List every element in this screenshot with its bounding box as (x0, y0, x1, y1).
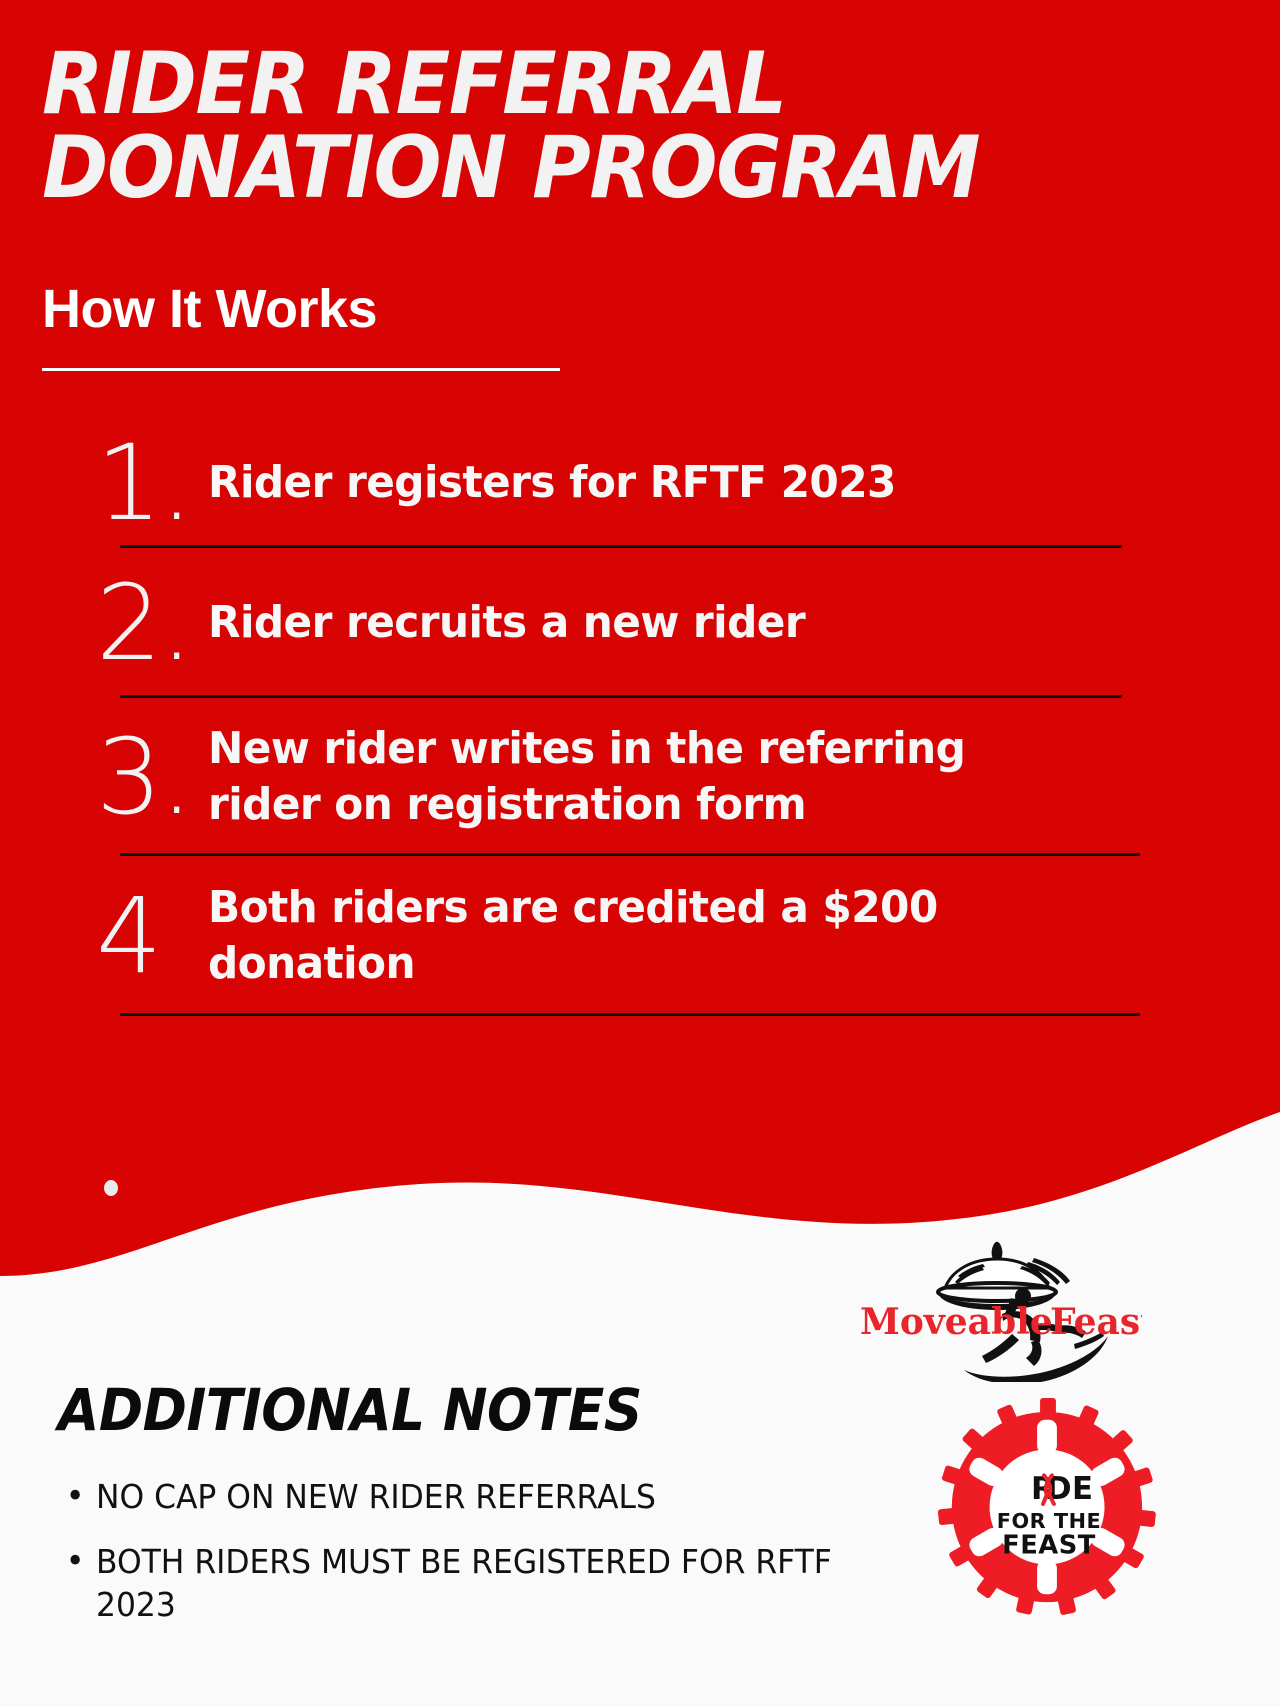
note-item-2: BOTH RIDERS MUST BE REGISTERED FOR RFTF … (58, 1541, 837, 1627)
moveable-feast-word1: Moveable (860, 1301, 1053, 1343)
step-item-1: 1. Rider registers for RFTF 2023 (0, 418, 1280, 548)
step-text-1: Rider registers for RFTF 2023 (208, 455, 896, 511)
step-text-2: Rider recruits a new rider (208, 595, 805, 651)
moveable-feast-word2: Feast (1050, 1301, 1142, 1343)
ride-for-the-feast-logo: R DE FOR THE FEAST (938, 1398, 1156, 1616)
decorative-dot (104, 1180, 118, 1196)
rftf-line3: FEAST (1002, 1531, 1096, 1561)
step-item-4: 4 Both riders are credited a $200 donati… (0, 856, 1280, 1016)
step-number-4: 4 (96, 884, 208, 988)
additional-notes-section: ADDITIONAL NOTES NO CAP ON NEW RIDER REF… (58, 1376, 878, 1649)
note-item-1: NO CAP ON NEW RIDER REFERRALS (58, 1476, 837, 1519)
step-item-2: 2. Rider recruits a new rider (0, 548, 1280, 698)
step-number-1: 1. (96, 431, 208, 535)
step-number-3: 3. (96, 725, 208, 829)
rftf-line2: FOR THE (997, 1509, 1101, 1533)
step-text-4: Both riders are credited a $200 donation (208, 880, 1005, 993)
notes-list: NO CAP ON NEW RIDER REFERRALS BOTH RIDER… (58, 1476, 878, 1627)
steps-list: 1. Rider registers for RFTF 2023 2. Ride… (0, 418, 1280, 1016)
step-text-3: New rider writes in the referring rider … (208, 721, 1005, 834)
step-number-2: 2. (96, 571, 208, 675)
page-title: RIDER REFERRAL DONATION PROGRAM (42, 42, 1028, 211)
subtitle-how-it-works: How It Works (42, 278, 377, 340)
moveable-feast-logo: Moveable Feast (852, 1222, 1142, 1382)
step-divider-4 (120, 1013, 1140, 1016)
notes-title: ADDITIONAL NOTES (58, 1376, 812, 1444)
poster-canvas: RIDER REFERRAL DONATION PROGRAM How It W… (0, 0, 1280, 1707)
step-item-3: 3. New rider writes in the referring rid… (0, 698, 1280, 856)
subtitle-underline (42, 368, 560, 371)
